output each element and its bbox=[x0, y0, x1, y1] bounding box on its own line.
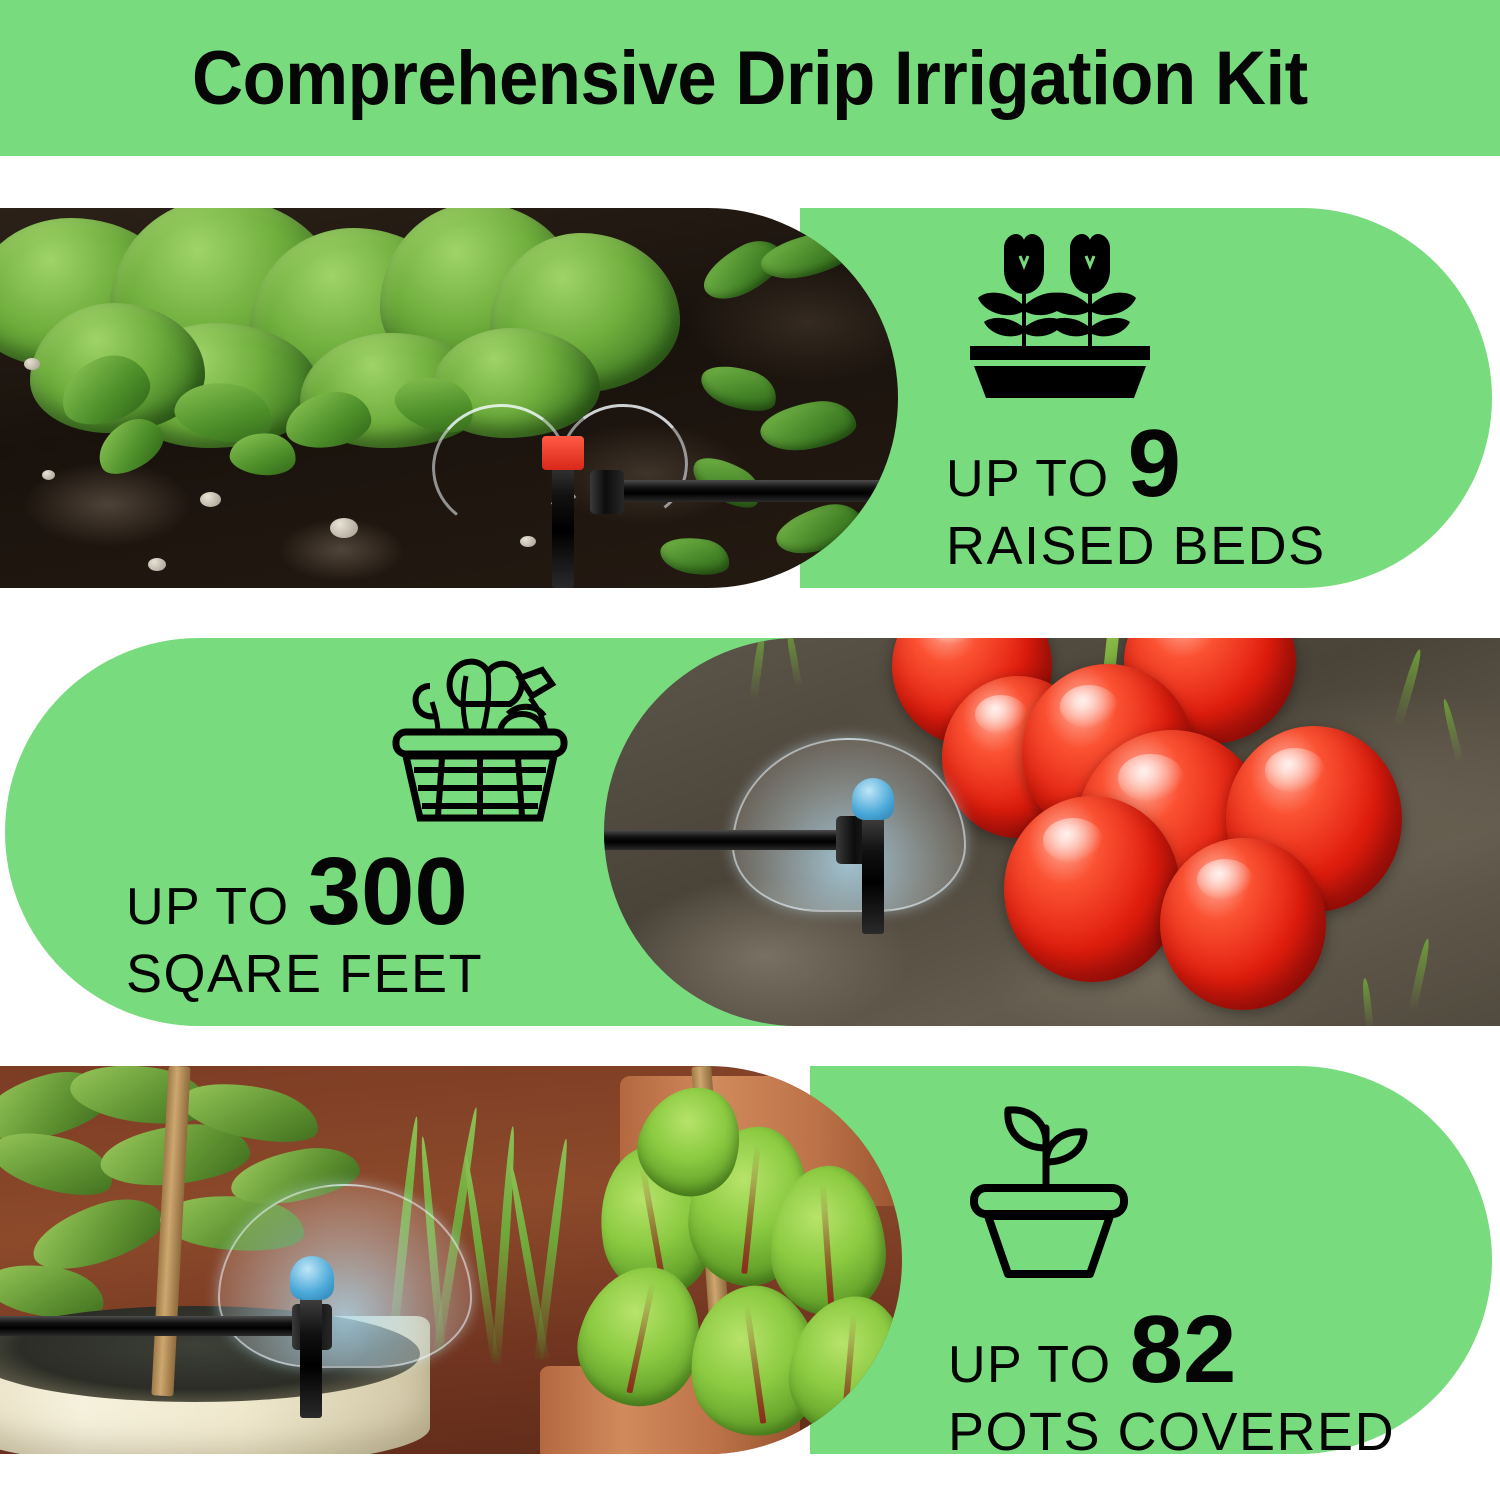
caption-value: 9 bbox=[1128, 420, 1181, 508]
potted-plant-icon bbox=[950, 1092, 1150, 1292]
caption-unit: SQARE FEET bbox=[126, 943, 483, 1005]
feature-row-pots-covered: UP TO 82 POTS COVERED bbox=[0, 1066, 1500, 1454]
caption-unit: POTS COVERED bbox=[948, 1401, 1395, 1463]
caption-value: 82 bbox=[1130, 1306, 1237, 1394]
page-title: Comprehensive Drip Irrigation Kit bbox=[192, 35, 1308, 122]
feature-photo-raised-beds bbox=[0, 208, 898, 588]
feature-photo-pots-covered bbox=[0, 1066, 902, 1454]
caption-value: 300 bbox=[308, 848, 468, 936]
feature-photo-square-feet bbox=[604, 638, 1500, 1026]
caption-prefix: UP TO bbox=[126, 877, 290, 937]
infographic-page: Comprehensive Drip Irrigation Kit bbox=[0, 0, 1500, 1500]
feature-caption-raised-beds: UP TO 9 RAISED BEDS bbox=[946, 420, 1326, 577]
caption-prefix: UP TO bbox=[948, 1335, 1112, 1395]
vegetable-basket-icon bbox=[370, 656, 590, 836]
feature-caption-square-feet: UP TO 300 SQARE FEET bbox=[126, 848, 483, 1005]
feature-row-square-feet: UP TO 300 SQARE FEET bbox=[0, 638, 1500, 1026]
title-banner: Comprehensive Drip Irrigation Kit bbox=[0, 0, 1500, 156]
caption-prefix: UP TO bbox=[946, 449, 1110, 509]
raised-bed-tulips-icon bbox=[960, 226, 1160, 406]
caption-unit: RAISED BEDS bbox=[946, 515, 1326, 577]
feature-row-raised-beds: UP TO 9 RAISED BEDS bbox=[0, 208, 1500, 588]
feature-caption-pots-covered: UP TO 82 POTS COVERED bbox=[948, 1306, 1395, 1463]
